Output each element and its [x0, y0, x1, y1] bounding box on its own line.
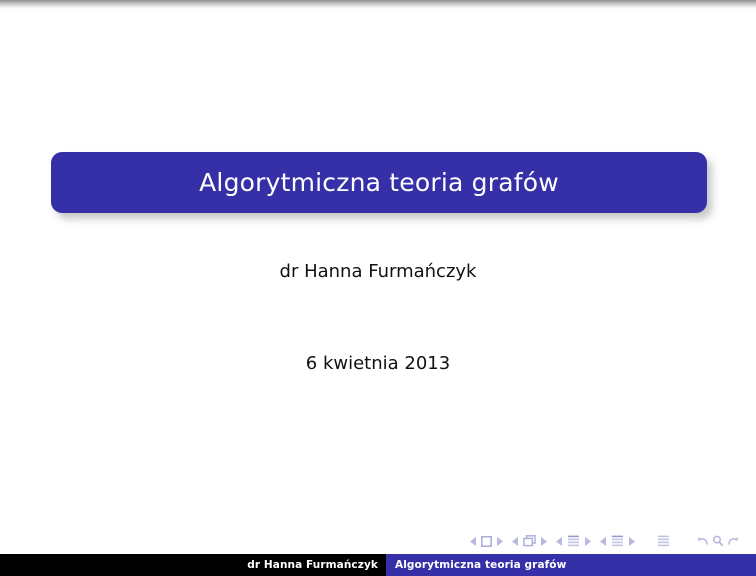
beamer-navigation-symbols	[470, 533, 748, 549]
prev-section-arrow-icon[interactable]	[600, 537, 607, 546]
slide-square-icon[interactable]	[481, 536, 492, 547]
next-frame-arrow-icon[interactable]	[540, 537, 547, 546]
find-nav-group[interactable]	[712, 535, 724, 547]
prev-frame-arrow-icon[interactable]	[512, 537, 519, 546]
presentation-slide: Algorytmiczna teoria grafów dr Hanna Fur…	[0, 9, 756, 567]
slide-footer: dr Hanna Furmańczyk Algorytmiczna teoria…	[0, 554, 756, 576]
presentation-nav-group[interactable]	[657, 535, 670, 547]
title-block: Algorytmiczna teoria grafów	[51, 152, 707, 213]
back-nav-group[interactable]	[697, 535, 709, 547]
next-slide-arrow-icon[interactable]	[496, 537, 503, 546]
frames-stack-icon[interactable]	[523, 535, 536, 547]
slide-author: dr Hanna Furmańczyk	[0, 261, 756, 282]
title-box: Algorytmiczna teoria grafów	[51, 152, 707, 213]
section-lines-icon[interactable]	[611, 535, 624, 547]
footer-title-section: Algorytmiczna teoria grafów	[386, 554, 756, 576]
magnifier-icon[interactable]	[712, 535, 724, 547]
footer-author-label: dr Hanna Furmańczyk	[247, 559, 378, 571]
next-section-arrow-icon[interactable]	[628, 537, 635, 546]
footer-author-section: dr Hanna Furmańczyk	[0, 554, 386, 576]
next-subsection-arrow-icon[interactable]	[584, 537, 591, 546]
slide-date: 6 kwietnia 2013	[0, 353, 756, 374]
prev-slide-arrow-icon[interactable]	[470, 537, 477, 546]
prev-subsection-arrow-icon[interactable]	[556, 537, 563, 546]
slide-nav-group[interactable]	[470, 536, 503, 547]
footer-title-label: Algorytmiczna teoria grafów	[395, 559, 566, 571]
back-arrow-icon[interactable]	[697, 535, 709, 547]
slide-title: Algorytmiczna teoria grafów	[199, 170, 559, 195]
frame-nav-group[interactable]	[512, 535, 547, 547]
page-top-edge-shadow	[0, 0, 756, 9]
subsection-lines-icon[interactable]	[567, 535, 580, 547]
presentation-lines-icon[interactable]	[657, 535, 670, 547]
subsection-nav-group[interactable]	[556, 535, 591, 547]
forward-arrow-icon[interactable]	[727, 535, 739, 547]
forward-nav-group[interactable]	[727, 535, 739, 547]
section-nav-group[interactable]	[600, 535, 635, 547]
